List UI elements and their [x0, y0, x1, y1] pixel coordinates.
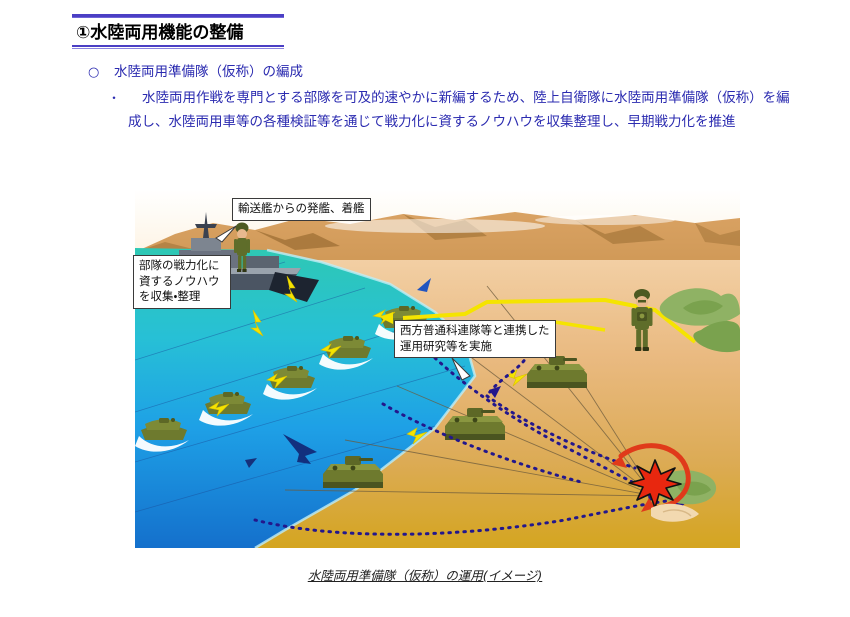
- bullet-level1-marker: ○: [88, 63, 114, 83]
- bullet-level1: ○水陸両用準備隊（仮称）の編成: [88, 62, 303, 83]
- page-title-text: ①水陸両用機能の整備: [72, 20, 284, 45]
- bullet-level1-text: 水陸両用準備隊（仮称）の編成: [114, 64, 303, 80]
- callout-force-buildup: 部隊の戦力化に資するノウハウを収集・整理: [133, 255, 231, 309]
- callout-ship-launch: 輸送艦からの発艦、着艦: [232, 198, 371, 221]
- illustration-caption: 水陸両用準備隊（仮称）の運用(イメージ): [0, 565, 850, 584]
- callout-unit-cooperation: 西方普通科連隊等と連携した運用研究等を実施: [394, 320, 556, 358]
- title-rule-bottom: [72, 45, 284, 47]
- illustration-svg: [135, 190, 740, 548]
- bullet-level2: ・ 水陸両用作戦を専門とする部隊を可及的速やかに新編するため、陸上自衛隊に水陸両…: [108, 86, 798, 134]
- title-rule-top-thin: [72, 17, 284, 18]
- bullet-level2-marker: ・: [108, 86, 120, 110]
- page-title: ①水陸両用機能の整備: [72, 14, 284, 49]
- bullet-level2-text: 水陸両用作戦を専門とする部隊を可及的速やかに新編するため、陸上自衛隊に水陸両用準…: [108, 86, 798, 134]
- illustration-caption-text: 水陸両用準備隊（仮称）の運用(イメージ): [308, 568, 543, 583]
- title-rule-bottom-thin: [72, 48, 284, 49]
- operation-illustration: [135, 190, 740, 548]
